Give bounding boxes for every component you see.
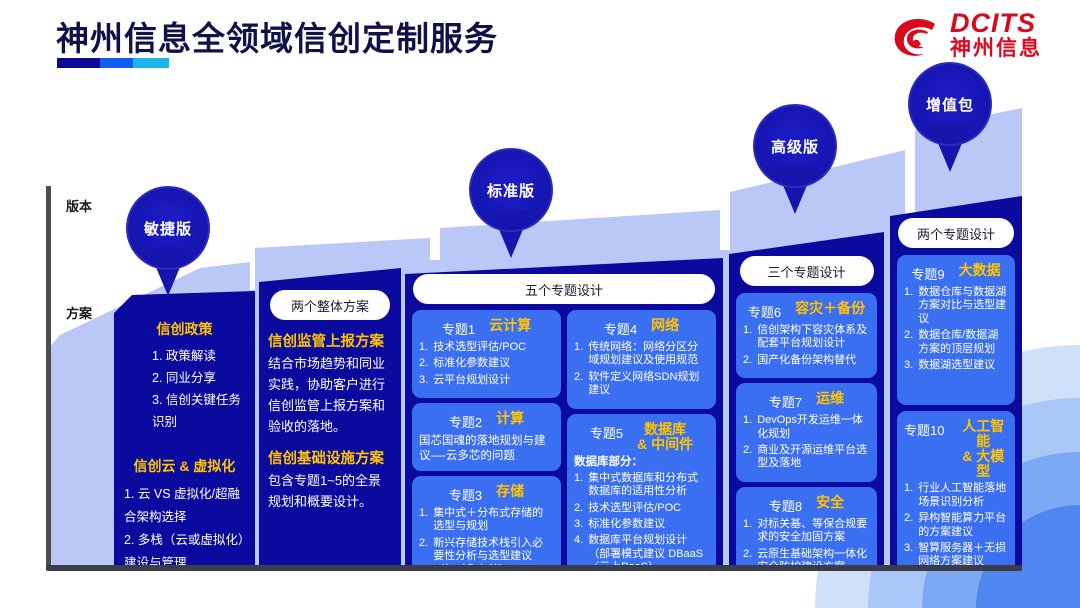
- list-item: 3.数据湖选型建议: [904, 359, 1008, 372]
- axis-label-solution: 方案: [66, 303, 92, 322]
- topic-tag: 存储: [496, 484, 524, 499]
- agile-policy-list: 1. 政策解读 2. 同业分享 3. 信创关键任务识别: [120, 346, 249, 434]
- topic-items: 1.DevOps开发运维一体化规划 2.商业及开源运维平台选型及落地: [743, 414, 870, 471]
- pin-label: 高级版: [753, 104, 837, 188]
- column-overall-solutions: 两个整体方案 信创监管上报方案 结合市场趋势和同业实践，协助客户进行信创监管上报…: [259, 268, 401, 568]
- list-item: 2.异构智能算力平台的方案建议: [904, 512, 1008, 539]
- topic-tag: 容灾＋备份: [795, 301, 865, 316]
- topic-tag: 大数据: [959, 263, 1001, 278]
- list-item: 1.集中式＋分布式存储的选型与规划: [419, 507, 554, 534]
- pin-label: 标准版: [469, 148, 553, 232]
- card-head: 专题7 运维: [743, 389, 870, 411]
- column-value-added: 两个专题设计 专题9 大数据 1.数据仓库与数据湖方案对比与选型建议 2.数据仓…: [890, 196, 1022, 568]
- card-head: 专题9 大数据: [904, 261, 1008, 283]
- list-item: 1.技术选型评估/POC: [419, 341, 554, 354]
- axis-vertical-line: [46, 186, 51, 568]
- dcits-logo: DCITS 神州信息: [888, 8, 1064, 70]
- topic-tag: 安全: [816, 495, 844, 510]
- topic-items: 1.技术选型评估/POC 2.标准化参数建议 3.云平台规划设计: [419, 341, 554, 387]
- topic-card-6[interactable]: 专题6 容灾＋备份 1.信创架构下容灾体系及配套平台规划设计 2.国产化备份架构…: [736, 293, 877, 378]
- card-head: 专题4 网络: [574, 316, 709, 338]
- topic-number: 专题10: [904, 419, 944, 439]
- column-standard: 五个专题设计 专题1 云计算 1.技术选型评估/POC 2.标准化参数建议 3.…: [405, 258, 723, 568]
- topic-subheading: 中间件部分：: [574, 578, 709, 593]
- card-head: 专题6 容灾＋备份: [743, 299, 870, 321]
- pin-advanced[interactable]: 高级版: [753, 104, 837, 214]
- list-item: 4.创新业务试点的共研落地: [904, 572, 1008, 599]
- topic-tag: 数据库 & 中间件: [637, 422, 693, 452]
- column-chip: 两个整体方案: [270, 290, 390, 320]
- block-text: 包含专题1~5的全景规划和概要设计。: [268, 470, 392, 512]
- topic-card-3[interactable]: 专题3 存储 1.集中式＋分布式存储的选型与规划 2.新兴存储技术栈引入必要性分…: [412, 476, 561, 588]
- topic-tag: 网络: [651, 318, 679, 333]
- topic-card-10[interactable]: 专题10 人工智能 & 大模型 1.行业人工智能落地场景识别分析 2.异构智能算…: [897, 411, 1015, 608]
- topic-number: 专题5: [590, 422, 623, 442]
- list-item: 1.信创架构下容灾体系及配套平台规划设计: [743, 324, 870, 351]
- topic-items: 1.集中式数据库和分布式数据库的适用性分析 2.技术选型评估/POC 3.标准化…: [574, 472, 709, 575]
- topic-number: 专题1: [442, 318, 475, 338]
- card-head: 专题10 人工智能 & 大模型: [904, 417, 1008, 479]
- list-item: 3. 关键技术问题解答: [124, 575, 249, 598]
- block-text: 结合市场趋势和同业实践，协助客户进行信创监管上报方案和验收的落地。: [268, 353, 392, 437]
- topic-items: 1.行业人工智能落地场景识别分析 2.异构智能算力平台的方案建议 3.智算服务器…: [904, 482, 1008, 598]
- topic-card-2[interactable]: 专题2 计算 国芯国魂的落地规划与建议—-云多芯的问题: [412, 403, 561, 471]
- topic-number: 专题7: [769, 391, 802, 411]
- list-item: 1. 政策解读: [152, 346, 249, 368]
- topic-items: 1.信创架构下容灾体系及配套平台规划设计 2.国产化备份架构替代: [743, 324, 870, 367]
- card-head: 专题3 存储: [419, 482, 554, 504]
- pin-label: 敏捷版: [126, 186, 210, 270]
- section-title: 信创政策: [120, 319, 249, 339]
- page-title: 神州信息全领域信创定制服务: [56, 12, 498, 60]
- topic-number: 专题6: [748, 301, 781, 321]
- topic-tag: 计算: [496, 411, 524, 426]
- list-item: 3.标准化参数建议: [574, 518, 709, 531]
- column-overall-body: 两个整体方案 信创监管上报方案 结合市场趋势和同业实践，协助客户进行信创监管上报…: [259, 268, 401, 568]
- topic-tag: 云计算: [489, 318, 531, 333]
- title-accent-bar: [57, 58, 169, 68]
- card-head: 专题1 云计算: [419, 316, 554, 338]
- topic-text: 中间件选型策略：云原生优先+传统信创中间件+开源管理: [574, 595, 709, 608]
- list-item: 1.集中式数据库和分布式数据库的适用性分析: [574, 472, 709, 499]
- topic-number: 专题4: [604, 318, 637, 338]
- section-title: 信创云 & 虚拟化: [120, 456, 249, 476]
- column-advanced-body: 三个专题设计 专题6 容灾＋备份 1.信创架构下容灾体系及配套平台规划设计 2.…: [729, 232, 884, 568]
- list-item: 2.标准化参数建议: [419, 357, 554, 370]
- list-item: 2.技术选型评估/POC: [574, 502, 709, 515]
- list-item: 2. 同业分享: [152, 368, 249, 390]
- chart-baseline: [46, 565, 1022, 571]
- accent-segment-cyan: [133, 58, 169, 68]
- topic-number: 专题2: [449, 411, 482, 431]
- topic-card-4[interactable]: 专题4 网络 1.传统网络：网络分区分域规划建议及使用规范 2.软件定义网络SD…: [567, 310, 716, 409]
- pin-label: 增值包: [908, 62, 992, 146]
- column-standard-body: 五个专题设计 专题1 云计算 1.技术选型评估/POC 2.标准化参数建议 3.…: [405, 258, 723, 568]
- list-item: 1.行业人工智能落地场景识别分析: [904, 482, 1008, 509]
- list-item: 3. 信创关键任务识别: [152, 390, 249, 434]
- card-head: 专题2 计算: [419, 409, 554, 431]
- column-value-added-body: 两个专题设计 专题9 大数据 1.数据仓库与数据湖方案对比与选型建议 2.数据仓…: [890, 196, 1022, 568]
- card-head: 专题8 安全: [743, 493, 870, 515]
- logo-wordmark: DCITS: [950, 10, 1036, 37]
- column-agile-body: 信创政策 1. 政策解读 2. 同业分享 3. 信创关键任务识别 信创云 & 虚…: [114, 291, 255, 568]
- topic-tag: 人工智能 & 大模型: [958, 419, 1008, 479]
- block-heading: 信创基础设施方案: [268, 447, 392, 468]
- card-head: 专题5 数据库 & 中间件: [574, 420, 709, 452]
- axis-label-version: 版本: [66, 196, 92, 215]
- agile-cloud-list: 1. 云 VS 虚拟化/超融合架构选择 2. 多栈（云或虚拟化）建设与管理 3.…: [120, 483, 249, 599]
- topic-number: 专题9: [911, 263, 944, 283]
- accent-segment-navy: [57, 58, 100, 68]
- pin-agile[interactable]: 敏捷版: [126, 186, 210, 296]
- column-advanced: 三个专题设计 专题6 容灾＋备份 1.信创架构下容灾体系及配套平台规划设计 2.…: [729, 232, 884, 568]
- list-item: 1.DevOps开发运维一体化规划: [743, 414, 870, 441]
- list-item: 1.传统网络：网络分区分域规划建议及使用规范: [574, 341, 709, 368]
- list-item: 1. 云 VS 虚拟化/超融合架构选择: [124, 483, 249, 529]
- dcits-swirl-icon: [888, 10, 946, 68]
- topic-items: 1.数据仓库与数据湖方案对比与选型建议 2.数据仓库/数据湖方案的顶层规划 3.…: [904, 286, 1008, 372]
- topic-number: 专题3: [449, 484, 482, 504]
- topic-card-9[interactable]: 专题9 大数据 1.数据仓库与数据湖方案对比与选型建议 2.数据仓库/数据湖方案…: [897, 255, 1015, 405]
- list-item: 3.云平台规划设计: [419, 374, 554, 387]
- topic-card-7[interactable]: 专题7 运维 1.DevOps开发运维一体化规划 2.商业及开源运维平台选型及落…: [736, 383, 877, 482]
- list-item: 1.数据仓库与数据湖方案对比与选型建议: [904, 286, 1008, 326]
- topic-number: 专题8: [769, 495, 802, 515]
- topic-text: 国芯国魂的落地规划与建议—-云多芯的问题: [419, 434, 554, 463]
- topic-tag: 运维: [816, 391, 844, 406]
- topic-subheading: 数据库部分：: [574, 455, 709, 470]
- topic-items: 1.传统网络：网络分区分域规划建议及使用规范 2.软件定义网络SDN规划建议: [574, 341, 709, 398]
- block-heading: 信创监管上报方案: [268, 330, 392, 351]
- column-chip: 三个专题设计: [740, 256, 874, 286]
- topic-card-1[interactable]: 专题1 云计算 1.技术选型评估/POC 2.标准化参数建议 3.云平台规划设计: [412, 310, 561, 398]
- list-item: 2.数据仓库/数据湖方案的顶层规划: [904, 329, 1008, 356]
- topic-card-5[interactable]: 专题5 数据库 & 中间件 数据库部分： 1.集中式数据库和分布式数据库的适用性…: [567, 414, 716, 608]
- list-item: 2.商业及开源运维平台选型及落地: [743, 444, 870, 471]
- pin-standard[interactable]: 标准版: [469, 148, 553, 258]
- list-item: 1.对标关基、等保合规要求的安全加固方案: [743, 518, 870, 545]
- list-item: 2.软件定义网络SDN规划建议: [574, 371, 709, 398]
- list-item: 2.国产化备份架构替代: [743, 354, 870, 367]
- pin-value-added[interactable]: 增值包: [908, 62, 992, 172]
- accent-segment-blue: [100, 58, 134, 68]
- logo-subtitle: 神州信息: [950, 38, 1042, 59]
- column-chip: 两个专题设计: [898, 218, 1014, 248]
- column-chip: 五个专题设计: [413, 274, 715, 304]
